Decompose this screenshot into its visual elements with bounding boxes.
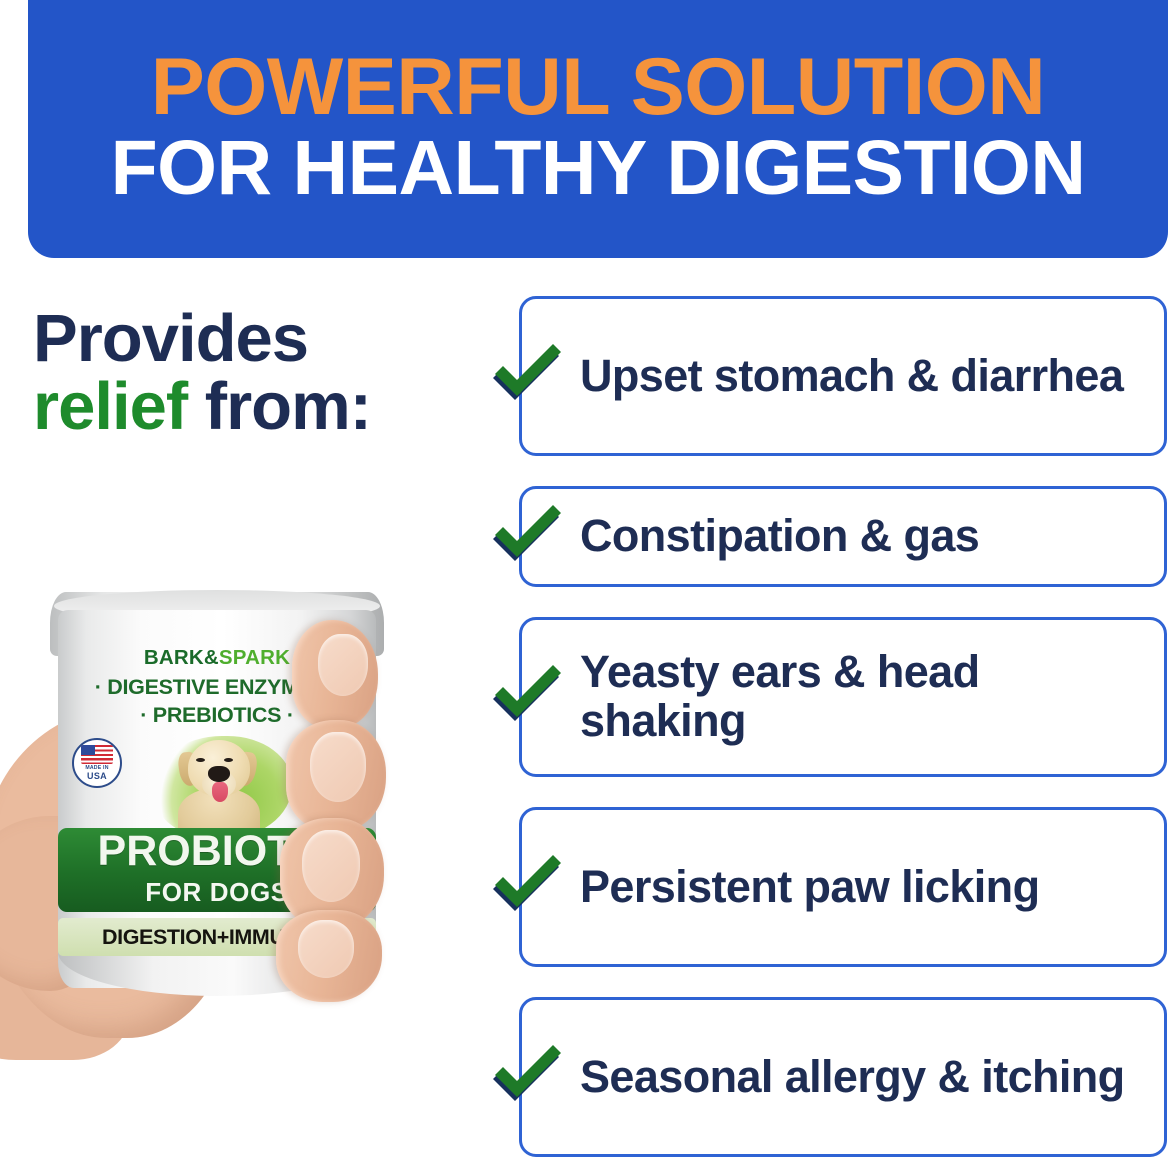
product-marketing-image: POWERFUL SOLUTION FOR HEALTHY DIGESTION …	[0, 0, 1172, 1170]
brand-name-bark: BARK	[144, 646, 204, 669]
benefit-item-3[interactable]: Yeasty ears & head shaking	[519, 617, 1167, 777]
dog-nose	[208, 766, 230, 782]
benefit-label-3: Yeasty ears & head shaking	[522, 648, 1164, 745]
heading-word-provides: Provides	[33, 301, 308, 376]
heading-word-relief: relief	[33, 369, 187, 444]
made-in-usa-badge: MADE IN USA	[72, 738, 122, 788]
section-heading: Provides relief from:	[33, 305, 503, 442]
flag-canton	[81, 745, 95, 755]
fingernail-3	[302, 830, 360, 902]
fingernail-1	[318, 634, 368, 696]
banner-headline-secondary: FOR HEALTHY DIGESTION	[111, 131, 1086, 206]
banner-headline-primary: POWERFUL SOLUTION	[151, 48, 1045, 127]
fingernail-4	[298, 920, 354, 978]
benefit-item-4[interactable]: Persistent paw licking	[519, 807, 1167, 967]
benefit-label-5: Seasonal allergy & itching	[522, 1053, 1137, 1102]
benefit-label-4: Persistent paw licking	[522, 863, 1051, 912]
header-banner: POWERFUL SOLUTION FOR HEALTHY DIGESTION	[28, 0, 1168, 258]
brand-name-spark: SPARK	[219, 646, 290, 669]
benefit-item-1[interactable]: Upset stomach & diarrhea	[519, 296, 1167, 456]
fingernail-2	[310, 732, 366, 802]
heading-word-from: from:	[187, 369, 371, 444]
benefit-label-2: Constipation & gas	[522, 512, 991, 561]
usa-badge-bottom-text: USA	[87, 771, 107, 781]
dog-photo	[134, 730, 302, 840]
benefit-item-5[interactable]: Seasonal allergy & itching	[519, 997, 1167, 1157]
benefit-label-1: Upset stomach & diarrhea	[522, 352, 1135, 401]
brand-ampersand: &	[204, 646, 219, 669]
usa-flag-icon	[81, 745, 113, 764]
dog-eye-left	[196, 758, 205, 762]
dog-eye-right	[224, 758, 233, 762]
golden-retriever-illustration	[172, 738, 264, 840]
benefit-item-2[interactable]: Constipation & gas	[519, 486, 1167, 587]
product-photo: BARK&SPARK · DIGESTIVE ENZYMES · · PREBI…	[0, 580, 470, 1050]
dog-tongue	[212, 782, 228, 802]
